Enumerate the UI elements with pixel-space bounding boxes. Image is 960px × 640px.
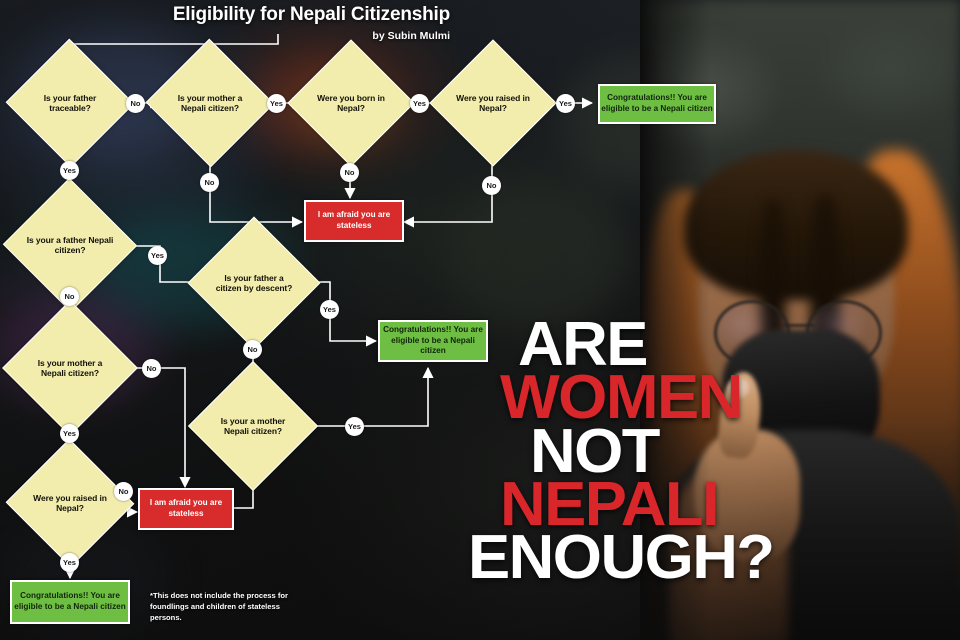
edge-label-d5-no: No <box>60 287 79 306</box>
infographic-poster: Eligibility for Nepali Citizenship by Su… <box>0 0 960 640</box>
decision-label: Is your a father Nepali citizen? <box>22 235 118 255</box>
outcome-stateless-bottom[interactable]: I am afraid you are stateless <box>138 488 234 530</box>
decision-label: Is your mother a Nepali citizen? <box>164 93 256 113</box>
decision-label: Were you raised in Nepal? <box>448 93 538 113</box>
decision-father-citizen-by-descent[interactable]: Is your father a citizen by descent? <box>207 236 301 330</box>
edge-d8-yes <box>297 368 428 426</box>
edge-label-d6-no: No <box>243 340 262 359</box>
decision-raised-in-nepal-top[interactable]: Were you raised in Nepal? <box>448 58 538 148</box>
edge-label-d4-no: No <box>482 176 501 195</box>
headline-block: ARE WOMEN NOT NEPALI ENOUGH? <box>500 318 800 585</box>
decision-label: Is your father traceable? <box>24 93 116 113</box>
edge-label-d9-yes: Yes <box>60 553 79 572</box>
decision-father-traceable[interactable]: Is your father traceable? <box>24 58 116 148</box>
decision-mother-nepali-citizen-mid[interactable]: Is your a mother Nepali citizen? <box>207 380 299 472</box>
footnote: *This does not include the process for f… <box>150 591 300 623</box>
outcome-stateless-top[interactable]: I am afraid you are stateless <box>304 200 404 242</box>
edge-label-d2-no: No <box>200 173 219 192</box>
edge-label-d1-yes: Yes <box>60 161 79 180</box>
edge-label-d3-no: No <box>340 163 359 182</box>
decision-born-in-nepal[interactable]: Were you born in Nepal? <box>306 58 396 148</box>
decision-mother-nepali-citizen-top[interactable]: Is your mother a Nepali citizen? <box>164 58 256 148</box>
byline: by Subin Mulmi <box>150 30 450 42</box>
edge-label-d4-yes: Yes <box>556 94 575 113</box>
decision-label: Were you born in Nepal? <box>306 93 396 113</box>
title-block: Eligibility for Nepali Citizenship by Su… <box>150 4 450 42</box>
edge-label-d6-yes: Yes <box>320 300 339 319</box>
edge-label-d3-yes: Yes <box>410 94 429 113</box>
page-title: Eligibility for Nepali Citizenship <box>150 4 450 26</box>
decision-label: Were you raised in Nepal? <box>24 493 116 513</box>
edge-label-d9-no: No <box>114 482 133 501</box>
outcome-eligible-top[interactable]: Congratulations!! You are eligible to be… <box>598 84 716 124</box>
decision-label: Is your mother a Nepali citizen? <box>22 358 118 378</box>
decision-father-nepali-citizen[interactable]: Is your a father Nepali citizen? <box>22 198 118 292</box>
edge-label-d5-yes: Yes <box>148 246 167 265</box>
edge-d4-no <box>404 148 492 222</box>
decision-raised-in-nepal-bottom[interactable]: Were you raised in Nepal? <box>24 458 116 548</box>
edge-label-d7-yes: Yes <box>60 424 79 443</box>
edge-label-d7-no: No <box>142 359 161 378</box>
decision-label: Is your father a citizen by descent? <box>207 273 301 293</box>
edge-label-d2-yes: Yes <box>267 94 286 113</box>
edge-d2-no <box>210 148 302 222</box>
outcome-eligible-bottom[interactable]: Congratulations!! You are eligible to be… <box>10 580 130 624</box>
outcome-eligible-middle[interactable]: Congratulations!! You are eligible to be… <box>378 320 488 362</box>
decision-mother-nepali-citizen-left[interactable]: Is your mother a Nepali citizen? <box>22 320 118 416</box>
edge-label-d1-no: No <box>126 94 145 113</box>
edge-d7-no <box>112 368 185 487</box>
edge-label-d8-yes: Yes <box>345 417 364 436</box>
decision-label: Is your a mother Nepali citizen? <box>207 416 299 436</box>
headline-line-5: ENOUGH? <box>468 531 807 584</box>
